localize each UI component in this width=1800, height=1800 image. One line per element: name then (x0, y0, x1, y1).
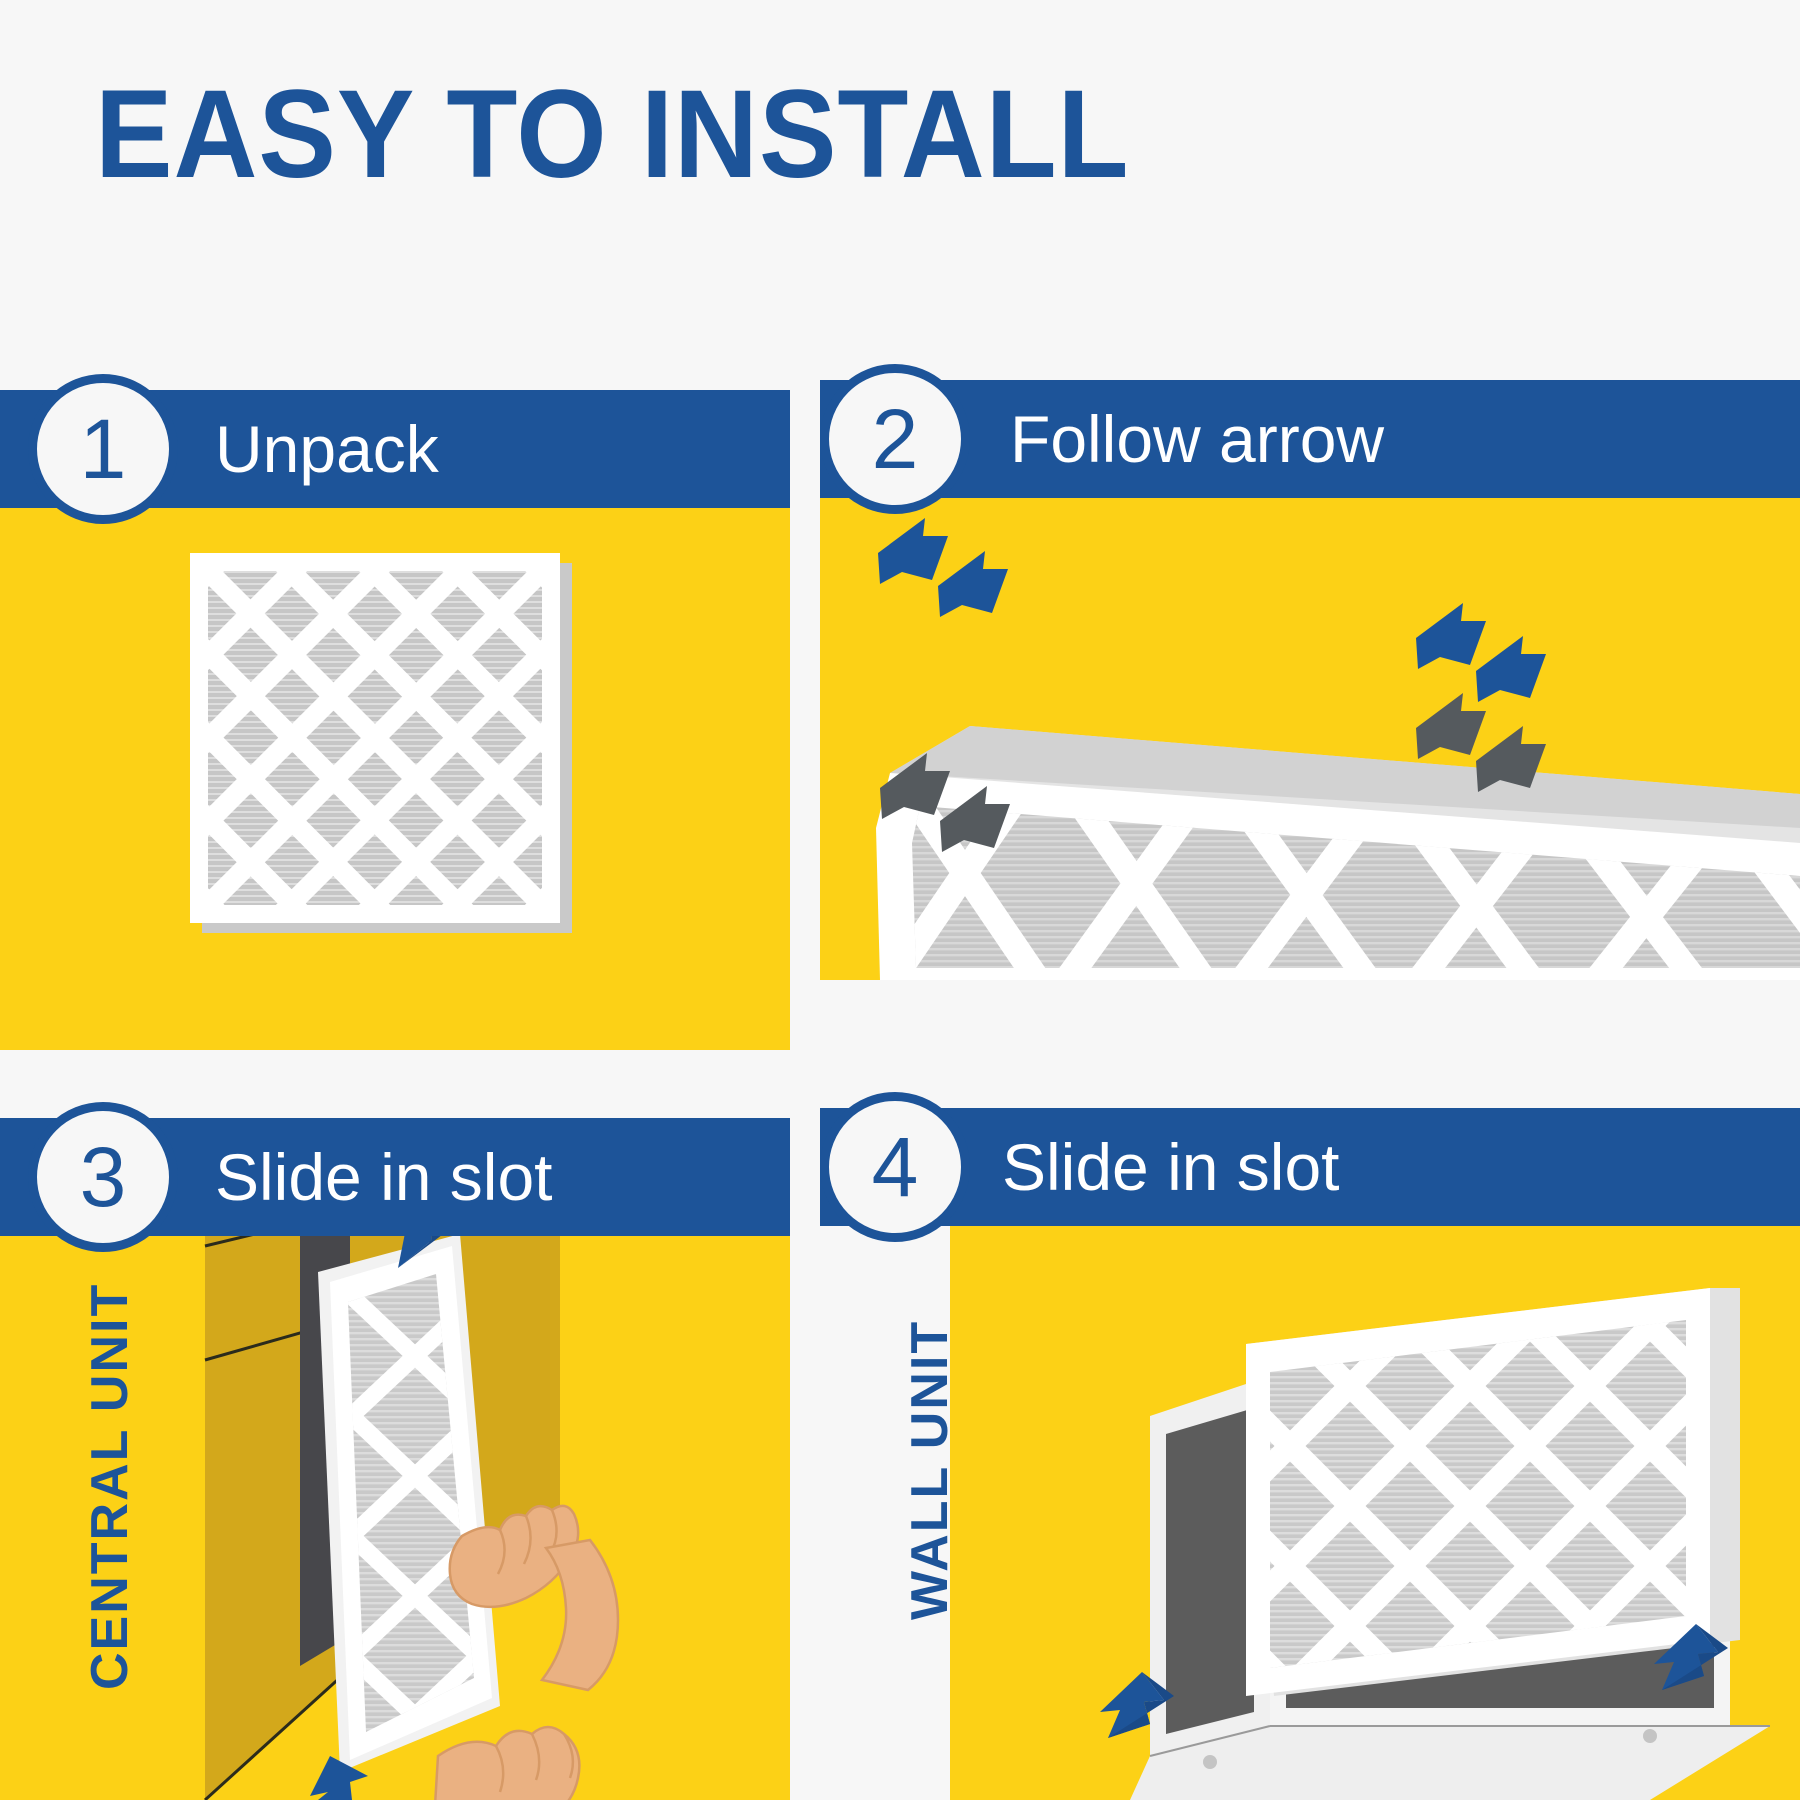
step-1-illustration (0, 508, 790, 1050)
step-4-label: Slide in slot (1002, 1129, 1340, 1205)
page-title: EASY TO INSTALL (95, 72, 1129, 197)
step-2-label: Follow arrow (1010, 401, 1384, 477)
step-1-number: 1 (80, 401, 127, 498)
step-4-number-badge: 4 (820, 1092, 970, 1242)
filter-mesh (208, 571, 542, 905)
step-1-number-badge: 1 (28, 374, 178, 524)
step-2-number: 2 (872, 391, 919, 488)
wall-unit-icon (950, 1226, 1800, 1800)
screw-icon (1203, 1755, 1217, 1769)
step-3-label: Slide in slot (215, 1139, 553, 1215)
step-1-label: Unpack (215, 411, 439, 487)
air-filter-icon (190, 553, 560, 923)
step-panel-4: Slide in slot 4 (820, 1108, 1800, 1800)
step-panel-2: Follow arrow 2 (820, 380, 1800, 980)
filter-lattice-icon (208, 571, 542, 905)
step-4-number: 4 (872, 1119, 919, 1216)
airflow-arrow-icon (820, 498, 1800, 980)
airflow-arrow-blue-right (1416, 603, 1546, 702)
step-2-illustration (820, 498, 1800, 980)
step-4-illustration (950, 1226, 1800, 1800)
step-3-number-badge: 3 (28, 1102, 178, 1252)
screw-icon (1643, 1729, 1657, 1743)
vent-cavity (1166, 1408, 1254, 1734)
step-2-number-badge: 2 (820, 364, 970, 514)
step-panel-1: Unpack 1 (0, 390, 790, 1050)
central-unit-label: CENTRAL UNIT (80, 1283, 140, 1690)
wall-unit-label: WALL UNIT (900, 1320, 960, 1620)
airflow-arrow-blue-left (878, 518, 1008, 617)
step-3-number: 3 (80, 1129, 127, 1226)
